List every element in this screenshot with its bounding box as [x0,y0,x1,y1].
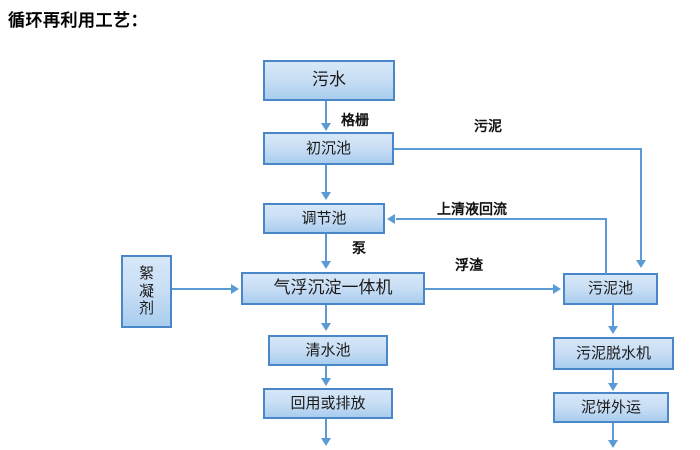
page-title: 循环再利用工艺： [8,6,148,31]
arrowhead-daf-to-clean-tank [321,323,331,331]
flowchart-canvas: 循环再利用工艺： 污水 初沉池 调节池 絮 凝 剂 气浮沉淀一体机 清水池 回用… [0,0,700,450]
node-flocculant-char-1: 絮 [139,265,154,283]
node-cake-transport[interactable]: 泥饼外运 [553,392,669,423]
connector-primary-to-regulating [325,165,327,192]
arrowhead-supernatant-to-regulating [387,214,395,224]
arrowhead-dewater-to-cake [608,383,618,391]
connector-scum-to-sludge-tank [425,288,554,290]
connector-primary-sludge-vertical [640,148,642,261]
arrowhead-scum-to-sludge-tank [553,284,561,294]
arrowhead-reuse-outlet [321,438,331,446]
node-wastewater-label: 污水 [312,72,346,90]
node-regulating-tank-label: 调节池 [301,211,346,227]
connector-wastewater-to-primary [325,101,327,124]
connector-dewater-to-cake [612,370,614,384]
arrowhead-sludge-to-sludge-tank [636,260,646,268]
node-sludge-dewater[interactable]: 污泥脱水机 [553,337,674,370]
node-flocculant[interactable]: 絮 凝 剂 [121,255,172,328]
arrowhead-cake-outlet [608,440,618,448]
arrowhead-sludge-tank-to-dewater [608,326,618,334]
node-cake-transport-label: 泥饼外运 [581,400,641,416]
connector-reuse-outlet [325,419,327,440]
node-sludge-tank-label: 污泥池 [588,281,633,297]
arrowhead-regulating-to-daf [321,261,331,269]
node-wastewater[interactable]: 污水 [263,60,395,101]
arrowhead-clean-tank-to-reuse [321,378,331,386]
node-daf-unit-label: 气浮沉淀一体机 [274,280,393,298]
connector-supernatant-vertical [605,218,607,274]
connector-primary-sludge-horizontal [394,148,642,150]
arrowhead-wastewater-to-primary [321,123,331,131]
edge-label-sludge: 污泥 [474,116,502,136]
connector-daf-to-clean-tank [325,305,327,324]
node-clean-tank[interactable]: 清水池 [268,335,388,366]
arrowhead-primary-to-regulating [321,192,331,200]
node-primary-tank[interactable]: 初沉池 [263,132,394,165]
node-sludge-tank[interactable]: 污泥池 [563,273,658,305]
connector-cake-outlet [612,423,614,441]
node-flocculant-char-3: 剂 [139,300,154,318]
node-reuse-discharge-label: 回用或排放 [290,396,365,412]
node-sludge-dewater-label: 污泥脱水机 [576,346,651,362]
arrowhead-flocculant-to-daf [231,284,239,294]
edge-label-grating: 格栅 [341,110,369,130]
edge-label-pump: 泵 [352,238,366,258]
node-primary-tank-label: 初沉池 [306,141,351,157]
connector-regulating-to-daf [325,234,327,261]
connector-sludge-tank-to-dewater [612,305,614,327]
connector-flocculant-to-daf [172,288,232,290]
node-flocculant-char-2: 凝 [139,283,154,301]
node-daf-unit[interactable]: 气浮沉淀一体机 [241,272,425,305]
node-regulating-tank[interactable]: 调节池 [263,203,385,234]
edge-label-scum: 浮渣 [455,255,483,275]
edge-label-supernatant: 上清液回流 [437,199,507,219]
node-clean-tank-label: 清水池 [305,343,350,359]
node-reuse-discharge[interactable]: 回用或排放 [263,388,393,419]
